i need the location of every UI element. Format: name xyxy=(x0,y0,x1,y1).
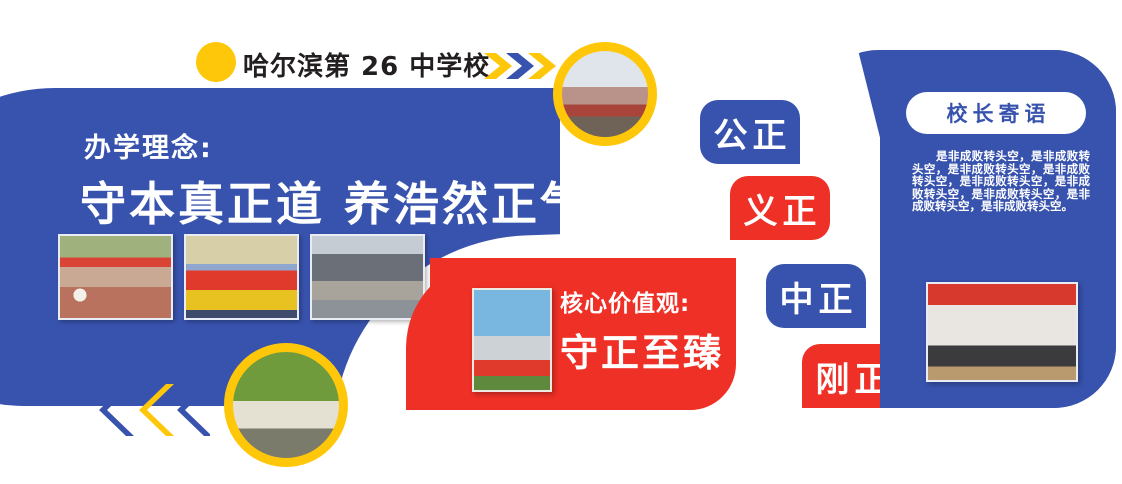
photo-principal-portrait xyxy=(926,282,1078,382)
principal-message-title: 校长寄语 xyxy=(942,98,1051,128)
culture-wall-canvas: 哈尔滨第 26 中学校 办学理念: 守本真正道 养浩然正气 核心价值观: 守正至… xyxy=(0,0,1122,484)
core-values-label: 核心价值观: xyxy=(560,284,690,318)
philosophy-label: 办学理念: xyxy=(84,126,213,165)
photo-dragon-dance xyxy=(472,288,552,392)
photo-students-lineup xyxy=(310,234,425,320)
principal-message-body: 是非成败转头空，是非成败转头空，是非成败转头空，是非成败转头空，是非成败转头空，… xyxy=(912,150,1090,213)
photo-students-red-flags xyxy=(184,234,299,320)
header-dot-icon xyxy=(196,42,236,82)
philosophy-slogan: 守本真正道 养浩然正气 xyxy=(80,168,589,234)
school-name-title: 哈尔滨第 26 中学校 xyxy=(243,46,490,83)
photo-campus-sports-day xyxy=(58,234,173,320)
core-values-slogan: 守正至臻 xyxy=(560,322,724,377)
value-badge-gongzheng[interactable]: 公正 xyxy=(700,100,800,164)
circle-photo-school-building xyxy=(553,42,657,146)
principal-message-title-badge: 校长寄语 xyxy=(906,92,1086,134)
value-badge-yizheng[interactable]: 义正 xyxy=(730,176,830,240)
chevron-left-icon xyxy=(92,382,210,438)
philosophy-photo-strip xyxy=(58,234,425,320)
value-badge-zhongzheng[interactable]: 中正 xyxy=(766,264,866,328)
circle-photo-school-gate xyxy=(224,343,348,467)
